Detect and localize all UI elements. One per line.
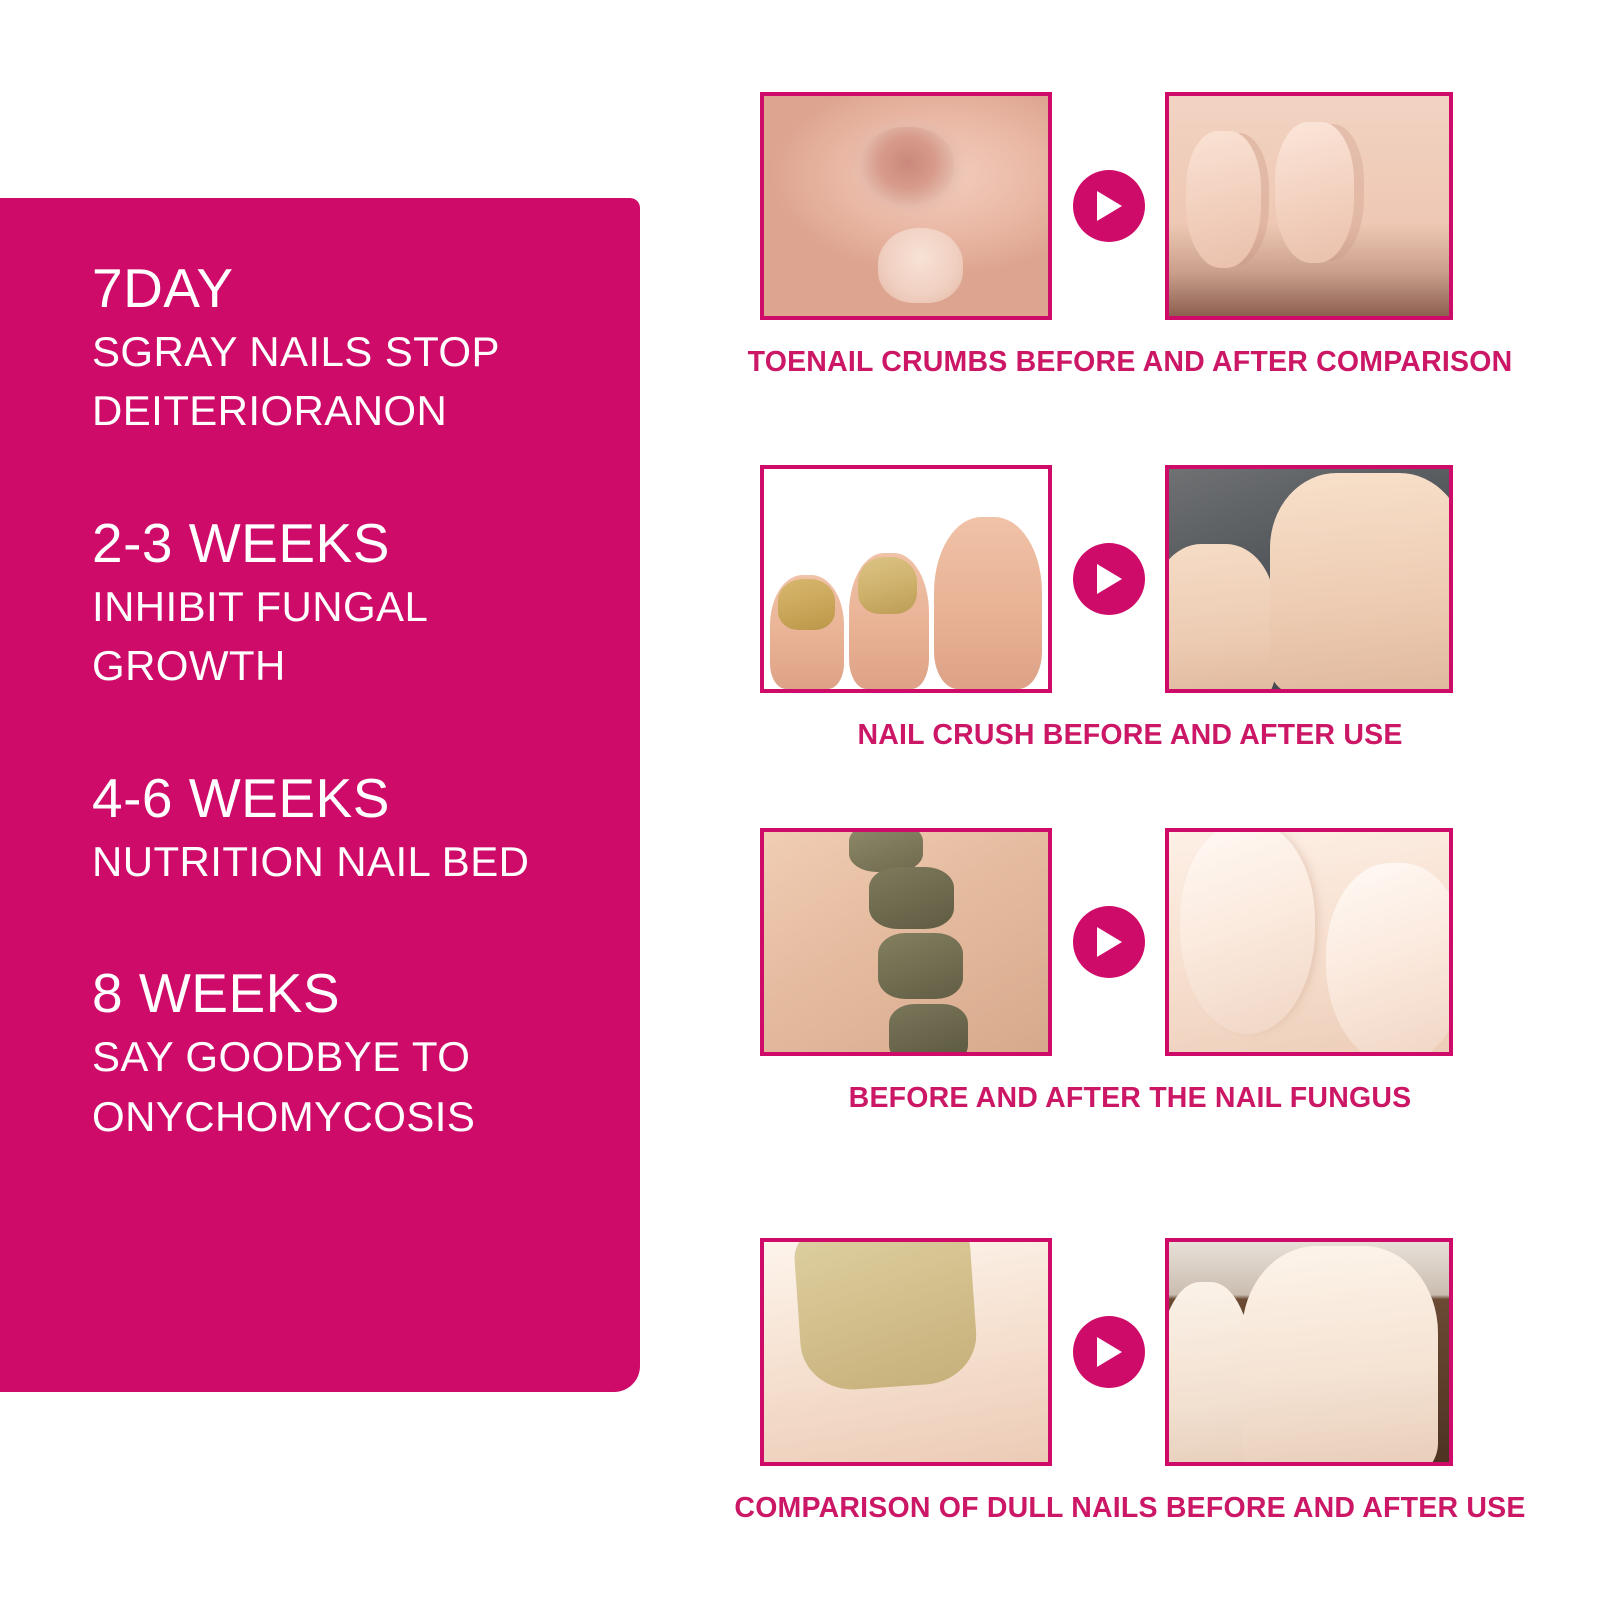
benefit-duration: 4-6 WEEKS <box>92 770 600 828</box>
comparison-row: COMPARISON OF DULL NAILS BEFORE AND AFTE… <box>660 1238 1600 1525</box>
before-after-pair <box>660 1238 1600 1466</box>
benefit-description: SAY GOODBYE TO ONYCHOMYCOSIS <box>92 1027 600 1146</box>
after-photo <box>1169 1242 1449 1462</box>
comparison-gallery: TOENAIL CRUMBS BEFORE AND AFTER COMPARIS… <box>660 0 1600 1600</box>
after-photo <box>1169 96 1449 316</box>
row-caption: BEFORE AND AFTER THE NAIL FUNGUS <box>660 1082 1600 1115</box>
before-photo <box>764 469 1048 689</box>
benefit-duration: 2-3 WEEKS <box>92 515 600 573</box>
before-photo-frame <box>760 92 1052 320</box>
benefit-duration: 7DAY <box>92 260 600 318</box>
comparison-row: TOENAIL CRUMBS BEFORE AND AFTER COMPARIS… <box>660 92 1600 379</box>
play-triangle-icon <box>1073 1316 1145 1388</box>
play-triangle-icon <box>1073 170 1145 242</box>
before-after-pair <box>660 92 1600 320</box>
benefit-item: 4-6 WEEKS NUTRITION NAIL BED <box>92 770 600 891</box>
after-photo-frame <box>1165 465 1453 693</box>
benefit-description: SGRAY NAILS STOP DEITERIORANON <box>92 322 600 441</box>
before-after-pair <box>660 465 1600 693</box>
play-triangle-icon <box>1073 543 1145 615</box>
comparison-row: NAIL CRUSH BEFORE AND AFTER USE <box>660 465 1600 752</box>
row-caption: TOENAIL CRUMBS BEFORE AND AFTER COMPARIS… <box>660 346 1600 379</box>
benefit-item: 2-3 WEEKS INHIBIT FUNGAL GROWTH <box>92 515 600 696</box>
benefit-item: 8 WEEKS SAY GOODBYE TO ONYCHOMYCOSIS <box>92 965 600 1146</box>
benefit-description: INHIBIT FUNGAL GROWTH <box>92 577 600 696</box>
benefit-duration: 8 WEEKS <box>92 965 600 1023</box>
before-photo-frame <box>760 828 1052 1056</box>
benefit-description: NUTRITION NAIL BED <box>92 832 600 892</box>
benefits-panel: 7DAY SGRAY NAILS STOP DEITERIORANON 2-3 … <box>0 198 640 1392</box>
before-photo-frame <box>760 1238 1052 1466</box>
row-caption: NAIL CRUSH BEFORE AND AFTER USE <box>660 719 1600 752</box>
comparison-row: BEFORE AND AFTER THE NAIL FUNGUS <box>660 828 1600 1115</box>
row-caption: COMPARISON OF DULL NAILS BEFORE AND AFTE… <box>660 1492 1600 1525</box>
after-photo-frame <box>1165 828 1453 1056</box>
before-photo-frame <box>760 465 1052 693</box>
play-triangle-icon <box>1073 906 1145 978</box>
after-photo-frame <box>1165 92 1453 320</box>
before-photo <box>764 832 1048 1052</box>
after-photo <box>1169 469 1449 689</box>
before-after-pair <box>660 828 1600 1056</box>
after-photo-frame <box>1165 1238 1453 1466</box>
before-photo <box>764 96 1048 316</box>
after-photo <box>1169 832 1449 1052</box>
benefit-item: 7DAY SGRAY NAILS STOP DEITERIORANON <box>92 260 600 441</box>
before-photo <box>764 1242 1048 1462</box>
